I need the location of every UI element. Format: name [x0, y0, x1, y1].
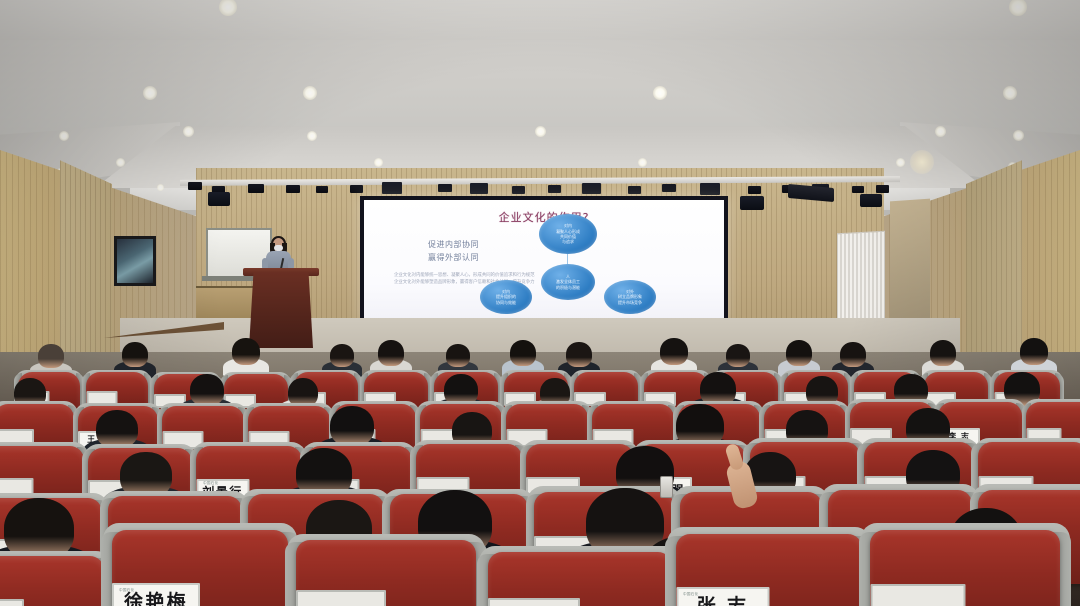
seat-name-card: 中国石化张 志 — [676, 587, 769, 606]
seat-card-holder — [0, 599, 24, 606]
stage-speaker — [700, 183, 720, 195]
audience-member — [96, 410, 138, 448]
audience-member — [1020, 338, 1048, 365]
audience-member — [122, 342, 148, 367]
slide-oval-left: 对内提升组织的协同与效能 — [480, 280, 532, 314]
ceiling-soffit — [0, 0, 1080, 40]
ceiling-speaker — [316, 186, 328, 193]
seat-card-holder — [870, 584, 965, 606]
downlight — [157, 184, 164, 191]
stage-speaker — [470, 183, 488, 194]
seat-card-holder — [296, 590, 386, 606]
audience-member — [232, 338, 260, 365]
slide-lead-line-1: 促进内部协同 — [428, 238, 558, 251]
audience-head — [660, 338, 688, 365]
audience-head — [1020, 338, 1048, 365]
audience-member — [330, 344, 354, 367]
downlight — [1003, 86, 1017, 100]
stage-speaker — [382, 182, 402, 194]
ceiling-speaker — [852, 186, 864, 193]
audience-head — [232, 338, 260, 365]
audience-head — [446, 344, 470, 367]
slide-oval-right: 对外树立品牌形象提升市场竞争 — [604, 280, 656, 314]
slide-oval-center: 人激发全体员工的积极与潜能 — [541, 264, 595, 300]
audience-head — [330, 344, 354, 367]
ceiling-speaker — [548, 185, 561, 193]
ceiling-speaker — [248, 184, 264, 193]
projector-screen: 企业文化的作用? 促进内部协同 赢得外部认同 企业文化对内能够统一思想、凝聚人心… — [364, 200, 724, 320]
downlight — [935, 126, 946, 137]
projector-screen-bezel: 企业文化的作用? 促进内部协同 赢得外部认同 企业文化对内能够统一思想、凝聚人心… — [360, 196, 728, 324]
audience-head — [786, 340, 812, 366]
audience-member — [378, 340, 404, 366]
seat-name-card: 中国石化徐艳梅 — [112, 583, 200, 606]
downlight — [638, 158, 647, 167]
audience-head — [566, 342, 592, 367]
audience-head — [378, 340, 404, 366]
downlight — [653, 86, 667, 100]
audience-member — [930, 340, 956, 366]
slide-lead-text: 促进内部协同 赢得外部认同 — [428, 238, 558, 264]
wall-wash-light — [910, 150, 934, 174]
ceiling-speaker — [286, 185, 300, 193]
audience-member — [330, 406, 374, 446]
audience-member — [840, 342, 866, 367]
audience-head — [96, 410, 138, 448]
name-card-name: 徐艳梅 — [124, 593, 188, 606]
ceiling-speaker — [748, 186, 761, 194]
audience-head — [510, 340, 536, 366]
stage-speaker — [582, 183, 601, 194]
downlight — [374, 158, 383, 167]
ceiling-speaker — [512, 186, 525, 194]
downlight — [896, 158, 905, 167]
hanging-speaker — [208, 192, 230, 206]
downlight — [116, 158, 125, 167]
slide-lead-line-2: 赢得外部认同 — [428, 251, 558, 264]
ceiling-speaker — [438, 184, 452, 192]
ceiling-speaker — [628, 186, 641, 194]
audience-member — [726, 344, 750, 367]
audience-member — [660, 338, 688, 365]
ceiling-speaker — [876, 185, 889, 193]
downlight — [59, 131, 69, 141]
audience-head — [930, 340, 956, 366]
audience-head — [330, 406, 374, 446]
downlight — [143, 86, 157, 100]
hanging-speaker — [740, 196, 764, 210]
wall-window — [114, 236, 156, 286]
audience-head — [726, 344, 750, 367]
podium — [249, 272, 313, 348]
slide-oval-top: 对内凝聚人心形成共同价值与追求 — [539, 214, 597, 254]
hanging-speaker — [860, 194, 882, 207]
audience-member — [786, 340, 812, 366]
downlight — [307, 131, 317, 141]
audience-member — [446, 344, 470, 367]
audience-member — [190, 374, 224, 406]
name-card-name: 张 志 — [697, 597, 748, 606]
ceiling-speaker — [662, 184, 676, 192]
downlight — [183, 126, 194, 137]
downlight — [535, 126, 546, 137]
smartphone — [660, 476, 673, 498]
ceiling-speaker — [188, 182, 202, 190]
audience-head — [38, 344, 64, 368]
audience-member — [566, 342, 592, 367]
audience-head — [840, 342, 866, 367]
audience-head — [122, 342, 148, 367]
downlight — [303, 86, 317, 100]
seat-card-holder — [488, 598, 580, 606]
downlight — [1013, 130, 1024, 141]
audience-member — [38, 344, 64, 368]
audience-member — [510, 340, 536, 366]
auditorium-photo: 企业文化的作用? 促进内部协同 赢得外部认同 企业文化对内能够统一思想、凝聚人心… — [0, 0, 1080, 606]
ceiling-speaker — [350, 185, 363, 193]
audience-head — [190, 374, 224, 406]
